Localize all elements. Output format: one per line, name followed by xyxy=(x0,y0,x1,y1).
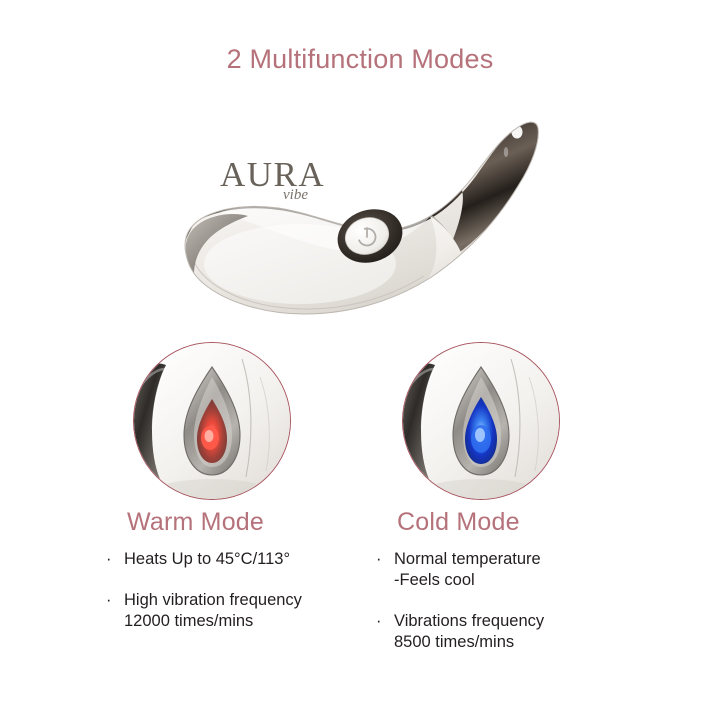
brand-sub-name: vibe xyxy=(283,187,308,203)
cold-mode-bullet-list: · Normal temperature -Feels cool · Vibra… xyxy=(370,549,660,653)
page-title: 2 Multifunction Modes xyxy=(0,44,720,75)
warm-mode-heading: Warm Mode xyxy=(100,508,390,537)
bullet-line: Heats Up to 45°C/113° xyxy=(124,549,390,570)
bullet-glyph: · xyxy=(106,590,112,611)
warm-mode-bullet-list: · Heats Up to 45°C/113° · High vibration… xyxy=(100,549,390,632)
brand-name: AURA xyxy=(220,155,325,194)
warm-mode-section: Warm Mode · Heats Up to 45°C/113° · High… xyxy=(100,508,390,632)
bullet-glyph: · xyxy=(106,549,112,570)
cold-mode-image xyxy=(402,342,560,500)
device-specular-dot-2 xyxy=(504,147,508,157)
list-item: · Normal temperature -Feels cool xyxy=(370,549,660,591)
bullet-glyph: · xyxy=(376,611,382,632)
bullet-line: 12000 times/mins xyxy=(124,611,390,632)
bullet-line: Vibrations frequency xyxy=(394,611,660,632)
bullet-glyph: · xyxy=(376,549,382,570)
bullet-line: Normal temperature xyxy=(394,549,660,570)
list-item: · Heats Up to 45°C/113° xyxy=(100,549,390,570)
cold-mode-heading: Cold Mode xyxy=(370,508,660,537)
bullet-line: -Feels cool xyxy=(394,570,660,591)
brand-logo: AURA vibe xyxy=(220,155,325,203)
bullet-line: High vibration frequency xyxy=(124,590,390,611)
list-item: · Vibrations frequency 8500 times/mins xyxy=(370,611,660,653)
bullet-line: 8500 times/mins xyxy=(394,632,660,653)
cold-mode-section: Cold Mode · Normal temperature -Feels co… xyxy=(370,508,660,653)
list-item: · High vibration frequency 12000 times/m… xyxy=(100,590,390,632)
warm-mode-image xyxy=(133,342,291,500)
warm-glow-core xyxy=(205,430,214,442)
cold-glow-core xyxy=(475,428,485,442)
product-hero-image: AURA vibe xyxy=(180,86,540,316)
